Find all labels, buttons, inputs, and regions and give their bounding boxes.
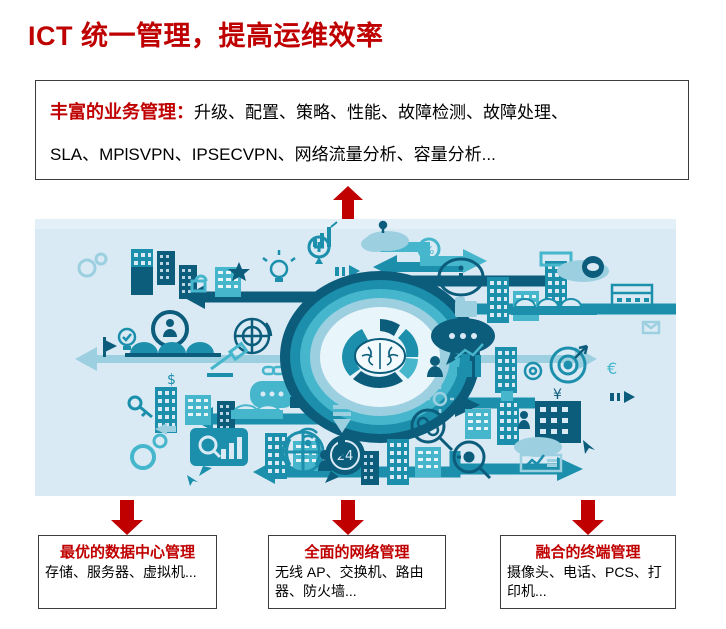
arrow-shaft [120,500,134,522]
arrow-head-down-icon [111,520,143,535]
category-description: 摄像头、电话、PCS、打印机... [501,562,675,601]
svg-text:%: % [424,244,434,257]
service-management-box: 丰富的业务管理：升级、配置、策略、性能、故障检测、故障处理、 SLA、MPlSV… [35,80,689,180]
category-box-terminal: 融合的终端管理 摄像头、电话、PCS、打印机... [500,535,676,609]
arrow-down-to-datacenter [111,500,143,536]
category-description: 存储、服务器、虚拟机... [39,562,216,582]
service-box-label: 丰富的业务管理： [50,102,194,122]
svg-text:$: $ [167,372,176,388]
category-description: 无线 AP、交换机、路由器、防火墙... [269,562,445,601]
arrow-head-down-icon [572,520,604,535]
svg-text:¥: ¥ [553,387,562,403]
globe-target-icon [235,319,271,353]
service-line-1: 丰富的业务管理：升级、配置、策略、性能、故障检测、故障处理、 [50,98,568,124]
arrow-up-to-service-box [333,186,363,218]
yen-icon: ¥ [553,387,562,403]
category-title: 全面的网络管理 [269,541,445,562]
brain-icon [355,339,405,373]
arrow-head-up-icon [333,186,363,200]
arrow-shaft [341,500,355,522]
category-box-network: 全面的网络管理 无线 AP、交换机、路由器、防火墙... [268,535,446,609]
hills-icon [125,342,221,357]
ict-hub-illustration: % $ [35,219,676,496]
euro-icon: € [607,359,617,378]
ict-hub-svg: % $ [35,219,676,496]
arrow-down-to-network [332,500,364,536]
service-line-1-text: 升级、配置、策略、性能、故障检测、故障处理、 [194,103,568,122]
category-title: 融合的终端管理 [501,541,675,562]
page-title: ICT 统一管理，提高运维效率 [28,14,384,53]
category-title: 最优的数据中心管理 [39,541,216,562]
arrow-head-down-icon [332,520,364,535]
dollar-icon: $ [167,372,176,388]
globe-person-icon [283,432,323,472]
category-box-datacenter: 最优的数据中心管理 存储、服务器、虚拟机... [38,535,217,609]
service-line-2: SLA、MPlSVPN、IPSECVPN、网络流量分析、容量分析... [50,140,496,165]
arrow-shaft [581,500,595,522]
arrow-down-to-terminal [572,500,604,536]
arrow-shaft [342,199,354,219]
